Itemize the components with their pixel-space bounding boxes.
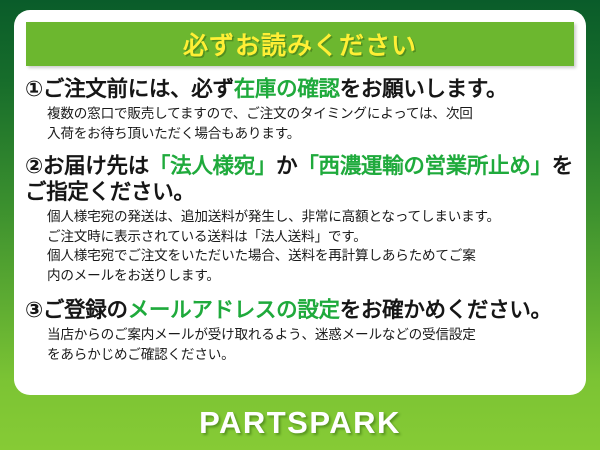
- notice-item-2: ②お届け先は「法人様宛」か「西濃運輸の営業所止め」をご指定ください。 個人様宅宛…: [25, 153, 575, 286]
- notice-item-2-heading-highlight-2: 「西濃運輸の営業所止め」: [297, 154, 551, 178]
- notice-item-1-subline-1: 複数の窓口で販売してますので、ご注文のタイミングによっては、次回: [47, 104, 575, 124]
- notice-item-2-subline-1: 個人様宅宛の発送は、追加送料が発生し、非常に高額となってしまいます。: [47, 207, 575, 227]
- notice-item-3-subtext: 当店からのご案内メールが受け取れるよう、迷惑メールなどの受信設定 をあらかじめご…: [47, 325, 575, 364]
- notice-item-2-heading: ②お届け先は「法人様宛」か「西濃運輸の営業所止め」をご指定ください。: [25, 153, 575, 205]
- page-title: 必ずお読みください: [183, 26, 417, 62]
- footer: PARTSPARK: [0, 395, 600, 450]
- notice-item-2-subline-3: 個人様宅宛でご注文をいただいた場合、送料を再計算しあらためてご案: [47, 246, 575, 266]
- notice-item-2-heading-highlight-1: 「法人様宛」: [149, 154, 276, 178]
- notice-item-3-heading-part-3: をお確かめください。: [340, 298, 552, 322]
- notice-item-3-marker: ③: [25, 298, 43, 322]
- notice-item-1-subline-2: 入荷をお待ち頂いただく場合もあります。: [47, 124, 575, 144]
- notice-item-1-heading-part-3: をお願いします。: [340, 77, 507, 101]
- notice-item-2-subline-4: 内のメールをお送りします。: [47, 266, 575, 286]
- notice-item-1-marker: ①: [25, 77, 43, 101]
- notice-item-2-heading-part-3: か: [276, 154, 297, 178]
- notice-item-3-heading: ③ご登録のメールアドレスの設定をお確かめください。: [25, 297, 575, 323]
- notice-item-1-heading-part-1: ご注文前には、必ず: [43, 77, 234, 101]
- notice-item-3-subline-2: をあらかじめご確認ください。: [47, 345, 575, 365]
- brand-logo: PARTSPARK: [199, 405, 401, 441]
- notice-item-3: ③ご登録のメールアドレスの設定をお確かめください。 当店からのご案内メールが受け…: [25, 297, 575, 365]
- notice-item-3-subline-1: 当店からのご案内メールが受け取れるよう、迷惑メールなどの受信設定: [47, 325, 575, 345]
- notice-item-1-heading-highlight: 在庫の確認: [234, 77, 340, 101]
- notice-card: 必ずお読みください ①ご注文前には、必ず在庫の確認をお願いします。 複数の窓口で…: [14, 10, 586, 395]
- notice-item-1-subtext: 複数の窓口で販売してますので、ご注文のタイミングによっては、次回 入荷をお待ち頂…: [47, 104, 575, 143]
- notice-item-2-subline-2: ご注文時に表示されている送料は「法人送料」です。: [47, 227, 575, 247]
- notice-item-2-subtext: 個人様宅宛の発送は、追加送料が発生し、非常に高額となってしまいます。 ご注文時に…: [47, 207, 575, 286]
- notice-item-1-heading: ①ご注文前には、必ず在庫の確認をお願いします。: [25, 76, 575, 102]
- notice-item-2-heading-part-1: お届け先は: [43, 154, 149, 178]
- notice-banner: 必ずお読みください ①ご注文前には、必ず在庫の確認をお願いします。 複数の窓口で…: [0, 0, 600, 450]
- notice-item-2-marker: ②: [25, 154, 43, 178]
- notice-header-bar: 必ずお読みください: [26, 22, 574, 66]
- notice-item-3-heading-part-1: ご登録の: [43, 298, 128, 322]
- notice-item-1: ①ご注文前には、必ず在庫の確認をお願いします。 複数の窓口で販売してますので、ご…: [25, 76, 575, 144]
- notice-item-3-heading-highlight: メールアドレスの設定: [128, 298, 340, 322]
